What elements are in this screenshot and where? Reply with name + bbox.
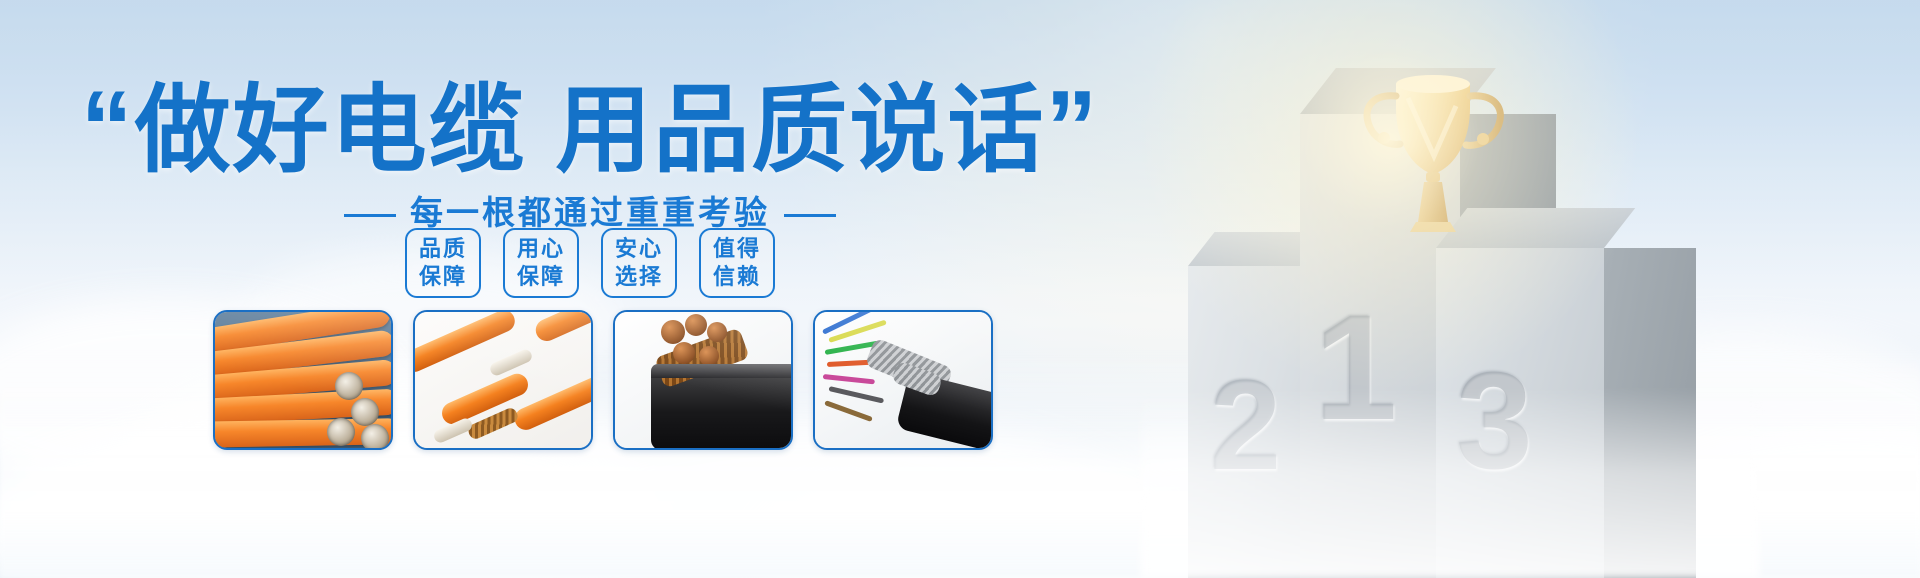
cable-brand-banner: 2 1 3 [0, 0, 1920, 578]
badge-line-2: 保障 [419, 263, 467, 291]
badge-trustworthy[interactable]: 值得 信赖 [699, 228, 775, 298]
dash-right-icon [784, 214, 836, 217]
subtitle-text: 每一根都通过重重考验 [410, 194, 770, 231]
open-quote: “ [81, 70, 135, 186]
product-card-shielded-multicore-cable[interactable] [813, 310, 993, 450]
badge-line-2: 选择 [615, 263, 663, 291]
badge-line-1: 安心 [615, 235, 663, 263]
card-gloss [415, 312, 591, 448]
gold-trophy-icon [1338, 46, 1528, 236]
trust-badge-row: 品质 保障 用心 保障 安心 选择 值得 信赖 [0, 228, 1180, 298]
dash-left-icon [344, 214, 396, 217]
badge-line-2: 保障 [517, 263, 565, 291]
close-quote: ” [1045, 70, 1099, 186]
badge-line-1: 品质 [419, 235, 467, 263]
badge-line-1: 值得 [713, 235, 761, 263]
badge-line-2: 信赖 [713, 263, 761, 291]
headline-text: 做好电缆 用品质说话 [135, 77, 1046, 184]
card-gloss [615, 312, 791, 448]
product-card-orange-cable-cutaway[interactable] [413, 310, 593, 450]
product-card-row [213, 310, 993, 450]
product-card-armored-black-cable[interactable] [613, 310, 793, 450]
card-gloss [815, 312, 991, 448]
badge-quality-guarantee[interactable]: 品质 保障 [405, 228, 481, 298]
badge-line-1: 用心 [517, 235, 565, 263]
badge-worry-free-choice[interactable]: 安心 选择 [601, 228, 677, 298]
product-card-orange-cable-bundle[interactable] [213, 310, 393, 450]
page-title: “做好电缆 用品质说话” [0, 72, 1180, 184]
podium-fog [1140, 388, 1760, 578]
subtitle: 每一根都通过重重考验 [0, 186, 1180, 234]
badge-dedication-guarantee[interactable]: 用心 保障 [503, 228, 579, 298]
card-gloss [215, 312, 391, 448]
